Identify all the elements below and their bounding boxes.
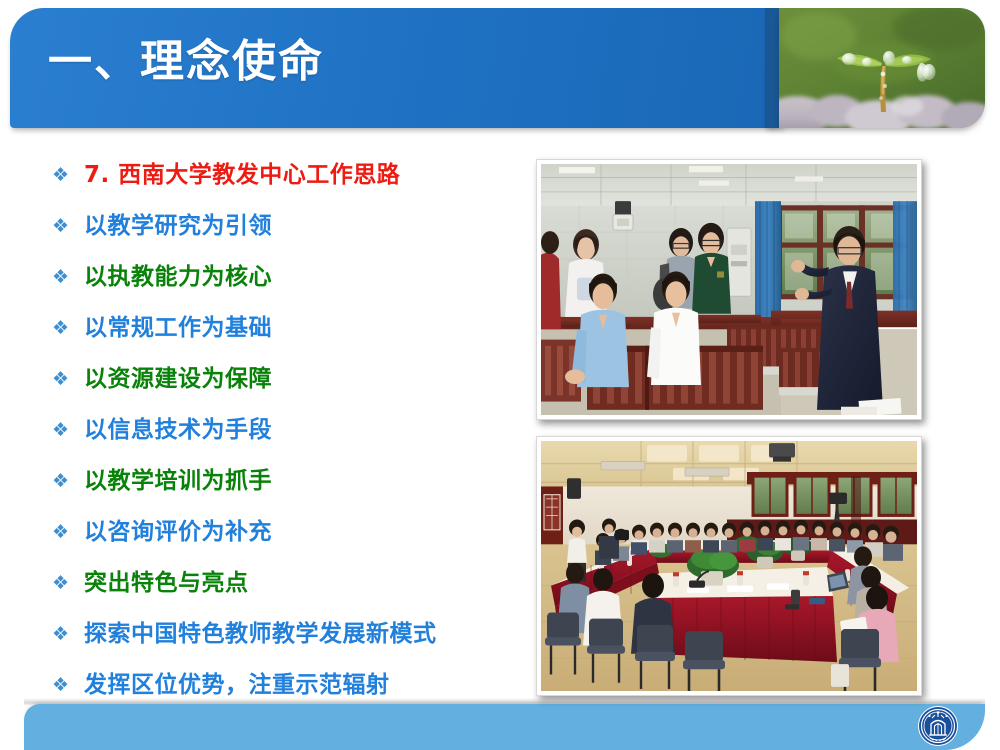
list-item[interactable]: ❖ 以资源建设为保障 xyxy=(52,364,522,415)
diamond-bullet-icon: ❖ xyxy=(52,619,84,649)
list-item-label: 探索中国特色教师教学发展新模式 xyxy=(84,619,437,649)
list-item[interactable]: ❖ 以教学研究为引领 xyxy=(52,211,522,262)
southwest-university-emblem-icon xyxy=(917,705,959,747)
diamond-bullet-icon: ❖ xyxy=(52,466,84,496)
list-item-label: 以执教能力为核心 xyxy=(84,262,272,292)
diamond-bullet-icon: ❖ xyxy=(52,568,84,598)
list-item-label: 7. 西南大学教发中心工作思路 xyxy=(84,160,400,190)
list-item[interactable]: ❖ 以教学培训为抓手 xyxy=(52,466,522,517)
diamond-bullet-icon: ❖ xyxy=(52,364,84,394)
list-item[interactable]: ❖ 7. 西南大学教发中心工作思路 xyxy=(52,160,522,211)
list-item-label: 以资源建设为保障 xyxy=(84,364,272,394)
diamond-bullet-icon: ❖ xyxy=(52,670,84,700)
university-logo xyxy=(917,705,959,747)
seedling-illustration xyxy=(779,8,985,128)
list-item-label: 以教学研究为引领 xyxy=(84,211,272,241)
list-item-label: 发挥区位优势，注重示范辐射 xyxy=(84,670,390,700)
diamond-bullet-icon: ❖ xyxy=(52,415,84,445)
list-item[interactable]: ❖ 以常规工作为基础 xyxy=(52,313,522,364)
list-item-label: 以咨询评价为补充 xyxy=(84,517,272,547)
meeting-photo-image xyxy=(541,441,917,691)
classroom-photo-image xyxy=(541,164,917,415)
diamond-bullet-icon: ❖ xyxy=(52,160,84,190)
page-title: 一、理念使命 xyxy=(48,40,324,84)
classroom-discussion-photo xyxy=(536,159,922,420)
diamond-bullet-icon: ❖ xyxy=(52,262,84,292)
list-item-label: 以教学培训为抓手 xyxy=(84,466,272,496)
list-item[interactable]: ❖ 探索中国特色教师教学发展新模式 xyxy=(52,619,522,670)
list-item[interactable]: ❖ 以执教能力为核心 xyxy=(52,262,522,313)
list-item[interactable]: ❖ 以咨询评价为补充 xyxy=(52,517,522,568)
list-item-label: 以常规工作为基础 xyxy=(84,313,272,343)
diamond-bullet-icon: ❖ xyxy=(52,517,84,547)
diamond-bullet-icon: ❖ xyxy=(52,211,84,241)
presentation-slide: 一、理念使命 xyxy=(0,0,1000,750)
list-item[interactable]: ❖ 以信息技术为手段 xyxy=(52,415,522,466)
list-item-label: 突出特色与亮点 xyxy=(84,568,249,598)
bullet-list: ❖ 7. 西南大学教发中心工作思路 ❖ 以教学研究为引领 ❖ 以执教能力为核心 … xyxy=(52,160,522,721)
header-seedling-photo xyxy=(779,8,985,128)
list-item-label: 以信息技术为手段 xyxy=(84,415,272,445)
conference-meeting-photo xyxy=(536,436,922,696)
list-item[interactable]: ❖ 突出特色与亮点 xyxy=(52,568,522,619)
diamond-bullet-icon: ❖ xyxy=(52,313,84,343)
list-item[interactable]: ❖ 发挥区位优势，注重示范辐射 xyxy=(52,670,522,721)
